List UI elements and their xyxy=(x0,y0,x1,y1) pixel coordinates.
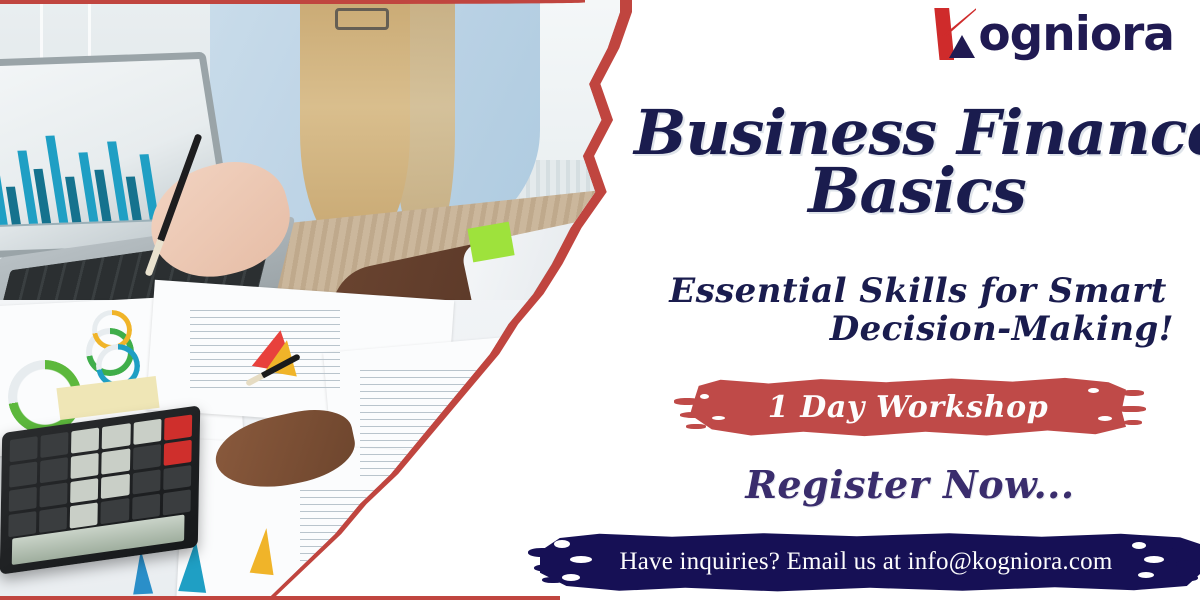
workshop-duration-badge: 1 Day Workshop xyxy=(690,376,1126,438)
photo-calculator xyxy=(0,405,200,575)
banner-content: Business Finance Basics Essential Skills… xyxy=(600,0,1200,600)
kogniora-logo[interactable]: ogniora xyxy=(932,8,1174,60)
event-banner: ogniora Business Finance Basics Essentia… xyxy=(0,0,1200,600)
contact-email-text[interactable]: Have inquiries? Email us at info@kognior… xyxy=(540,532,1200,592)
photo-eyeglasses xyxy=(335,8,389,30)
subtitle-line-2: Decision-Making! xyxy=(640,310,1196,348)
logo-wordmark: ogniora xyxy=(978,11,1174,58)
photo-green-highlighter xyxy=(467,222,514,263)
business-meeting-photo xyxy=(0,0,620,600)
photo-bottom-rule xyxy=(0,596,560,600)
page-subtitle: Essential Skills for Smart Decision-Maki… xyxy=(640,272,1196,348)
title-line-2: Basics xyxy=(634,162,1200,220)
register-now-cta[interactable]: Register Now... xyxy=(660,462,1160,507)
page-title: Business Finance Basics xyxy=(634,104,1200,221)
photo-top-rule xyxy=(0,0,585,4)
kogniora-k-logo-icon xyxy=(932,8,976,60)
contact-footer-bar: Have inquiries? Email us at info@kognior… xyxy=(540,532,1200,592)
subtitle-line-1: Essential Skills for Smart xyxy=(640,272,1196,310)
workshop-duration-label: 1 Day Workshop xyxy=(690,376,1126,438)
